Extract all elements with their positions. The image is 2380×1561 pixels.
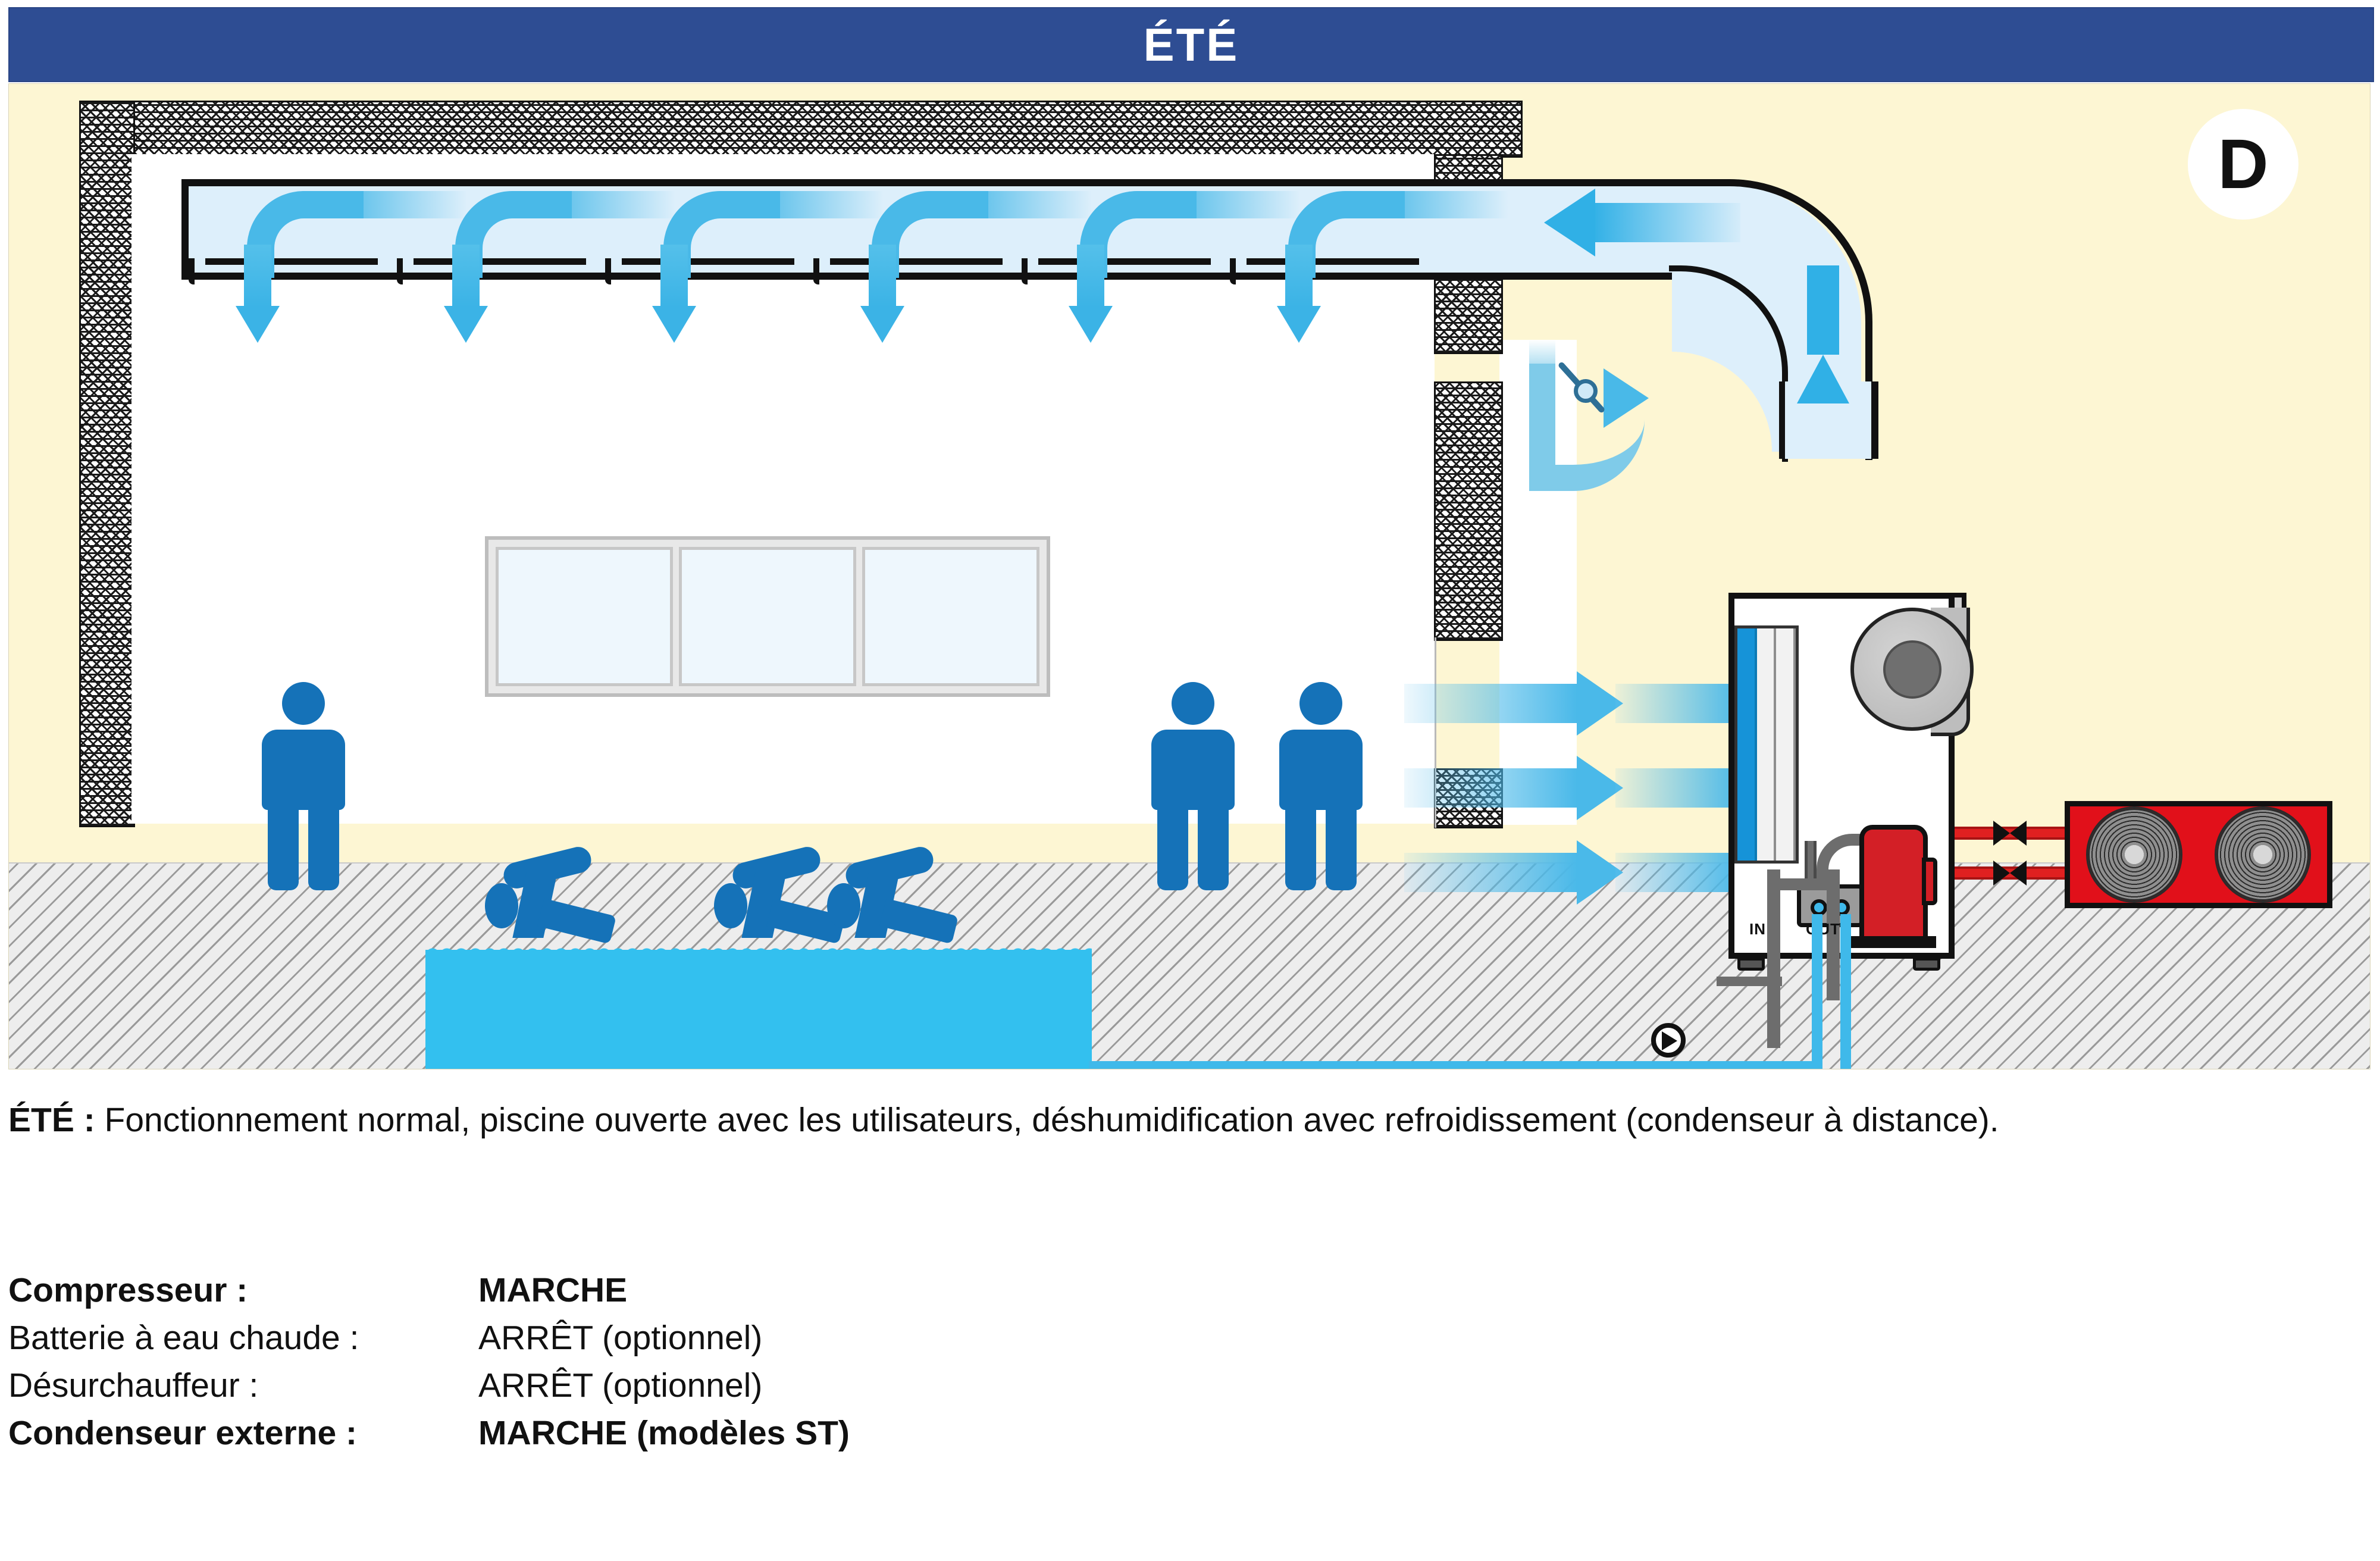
supply-air-tail	[538, 191, 675, 218]
diffuser-tick	[189, 258, 195, 284]
status-row: Désurchauffeur : ARRÊT (optionnel)	[8, 1366, 850, 1405]
hvac-diagram-scene: D	[8, 83, 2370, 1069]
status-value: MARCHE (modèles ST)	[478, 1413, 850, 1453]
season-title: ÉTÉ	[1144, 21, 1239, 68]
status-label: Compresseur :	[8, 1271, 478, 1310]
swimmer-figure	[485, 855, 604, 938]
supply-air-tail	[330, 191, 467, 218]
evaporator-coil	[1734, 625, 1799, 864]
window	[485, 536, 1050, 697]
window-pane	[496, 547, 673, 686]
wall-right-middle-insulation	[1434, 381, 1503, 641]
fresh-air-arrowhead	[1604, 368, 1649, 428]
status-row: Compresseur : MARCHE	[8, 1271, 850, 1310]
supply-air-tail	[747, 191, 884, 218]
ground-hatch	[9, 862, 2370, 1069]
blower-hub-icon	[1883, 640, 1941, 699]
status-label: Condenseur externe :	[8, 1413, 478, 1453]
swimmer-figure	[714, 855, 833, 938]
pool-water-pipe-return	[1840, 914, 1851, 1069]
diffuser-tick	[1022, 258, 1028, 284]
service-valve-icon	[1993, 821, 2027, 846]
caption-text: ÉTÉ : Fonctionnement normal, piscine ouv…	[8, 1098, 2329, 1143]
status-row: Condenseur externe : MARCHE (modèles ST)	[8, 1413, 850, 1453]
diffuser-tick	[605, 258, 611, 284]
pool-water	[425, 950, 1092, 1069]
diffuser-tick	[813, 258, 819, 284]
damper-pivot-icon	[1574, 379, 1598, 403]
window-pane	[679, 547, 856, 686]
pool-water-pipe-supply	[1812, 914, 1822, 1069]
caption-body: Fonctionnement normal, piscine ouverte a…	[95, 1101, 1999, 1139]
compressor-terminal-box	[1922, 858, 1937, 905]
compressor	[1859, 825, 1928, 941]
drain-pipe-lower	[1717, 977, 1782, 986]
remote-condenser-unit	[2065, 801, 2332, 908]
drain-in-label: IN	[1749, 920, 1766, 939]
panel-letter-badge: D	[2188, 109, 2298, 220]
wall-left-insulation	[79, 101, 135, 827]
panel-letter: D	[2218, 129, 2268, 199]
compressor-base	[1851, 936, 1936, 948]
unit-foot	[1737, 958, 1765, 971]
status-label: Désurchauffeur :	[8, 1366, 478, 1405]
status-value: MARCHE	[478, 1271, 627, 1310]
season-header-bar: ÉTÉ	[8, 7, 2374, 82]
diffuser-tick	[397, 258, 403, 284]
status-label: Batterie à eau chaude :	[8, 1318, 478, 1357]
supply-air-tail	[955, 191, 1092, 218]
duct-flow-arrow-left	[1544, 203, 1740, 242]
condenser-fan-icon	[2216, 808, 2309, 901]
status-value: ARRÊT (optionnel)	[478, 1366, 762, 1405]
component-status-list: Compresseur : MARCHE Batterie à eau chau…	[8, 1271, 850, 1461]
drain-out-label: OUT	[1806, 920, 1840, 939]
supply-air-tail	[1371, 191, 1508, 218]
swimmer-figure	[827, 855, 946, 938]
condenser-fan-icon	[2088, 808, 2181, 901]
pump-direction-icon	[1662, 1031, 1677, 1050]
pool-water-pipe-horizontal	[1089, 1061, 1821, 1069]
unit-foot	[1913, 958, 1940, 971]
service-valve-icon	[1993, 861, 2027, 886]
supply-air-tail	[1163, 191, 1300, 218]
drain-pipe-in	[1767, 869, 1780, 1048]
status-row: Batterie à eau chaude : ARRÊT (optionnel…	[8, 1318, 850, 1357]
caption-lead: ÉTÉ :	[8, 1101, 95, 1139]
roof-insulation	[79, 101, 1523, 158]
window-pane	[862, 547, 1039, 686]
status-value: ARRÊT (optionnel)	[478, 1318, 762, 1357]
diffuser-tick	[1230, 258, 1236, 284]
